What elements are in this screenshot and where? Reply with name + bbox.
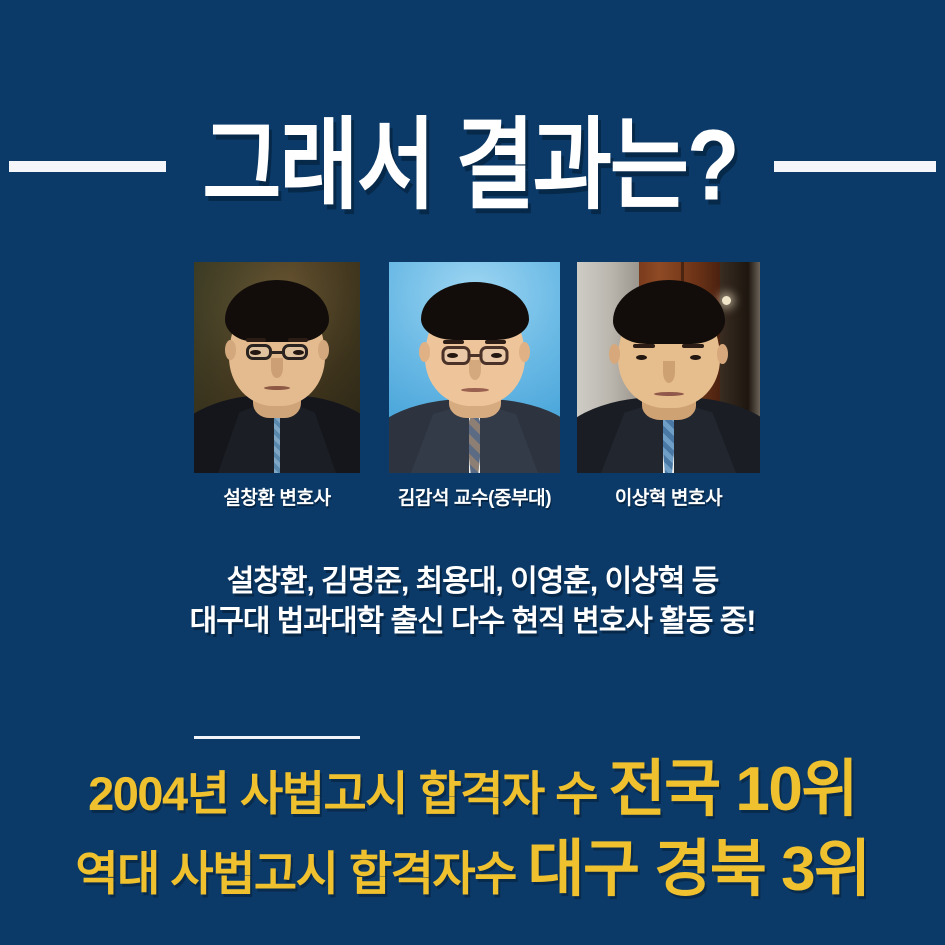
portrait-1-ear-right (318, 340, 329, 360)
portrait-1-ear-left (225, 340, 236, 360)
portrait-3-mouth (654, 392, 684, 396)
stat-line-1: 2004년 사법고시 합격자 수 전국 10위 (0, 738, 945, 828)
portrait-3-brow-left (633, 344, 655, 348)
stat-2-lead: 역대 사법고시 합격자수 (75, 847, 527, 900)
portrait-2-eye-left (447, 353, 458, 358)
body-paragraph: 설창환, 김명준, 최용대, 이영훈, 이상혁 등 대구대 법과대학 출신 다수… (0, 562, 945, 641)
portrait-3-eye-left (636, 355, 647, 360)
header-title-row: 그래서 결과는? (0, 112, 945, 220)
title-rule-right-icon (774, 161, 936, 172)
portrait-2-brow-left (443, 340, 464, 344)
title-rule-left-icon (9, 161, 166, 172)
portrait-1-brow-left (246, 338, 266, 342)
body-line-2: 대구대 법과대학 출신 다수 현직 변호사 활동 중! (0, 602, 945, 642)
portrait-1-eye-left (250, 350, 261, 355)
portrait-3-lamp-icon (722, 296, 731, 305)
portrait-2-ear-right (519, 342, 530, 362)
portrait-3-ear-left (609, 344, 620, 364)
portrait-1-eye-right (293, 350, 304, 355)
portrait-caption-1: 설창환 변호사 (194, 483, 360, 510)
portrait-2-mouth (461, 388, 489, 392)
stat-1-emphasis: 전국 10위 (609, 755, 857, 824)
body-line-1: 설창환, 김명준, 최용대, 이영훈, 이상혁 등 (0, 562, 945, 602)
portrait-photo-3 (577, 262, 760, 473)
portrait-3-ear-right (717, 344, 728, 364)
portrait-1-mouth (264, 386, 290, 390)
portrait-1-brow-right (288, 338, 308, 342)
portrait-2-ear-left (419, 342, 430, 362)
stat-2-emphasis: 대구 경북 3위 (527, 835, 869, 904)
portrait-caption-2: 김갑석 교수(중부대) (379, 483, 570, 510)
portrait-photo-2 (389, 262, 560, 473)
stat-line-2: 역대 사법고시 합격자수 대구 경북 3위 (0, 818, 945, 908)
stat-1-lead: 2004년 사법고시 합격자 수 (88, 767, 608, 820)
portrait-3-eye-right (690, 355, 701, 360)
portrait-3-nose (663, 361, 675, 383)
portrait-photo-1 (194, 262, 360, 473)
portrait-1-nose (271, 358, 283, 378)
promo-card: { "theme": { "background": "#0b3a68", "t… (0, 0, 945, 945)
portrait-2-nose (469, 360, 481, 380)
portrait-2-brow-right (485, 340, 506, 344)
portrait-caption-3: 이상혁 변호사 (577, 483, 760, 510)
portrait-gallery (0, 262, 945, 474)
portrait-2-eye-right (491, 353, 502, 358)
portrait-3-brow-right (682, 344, 704, 348)
page-title: 그래서 결과는? (202, 116, 737, 216)
